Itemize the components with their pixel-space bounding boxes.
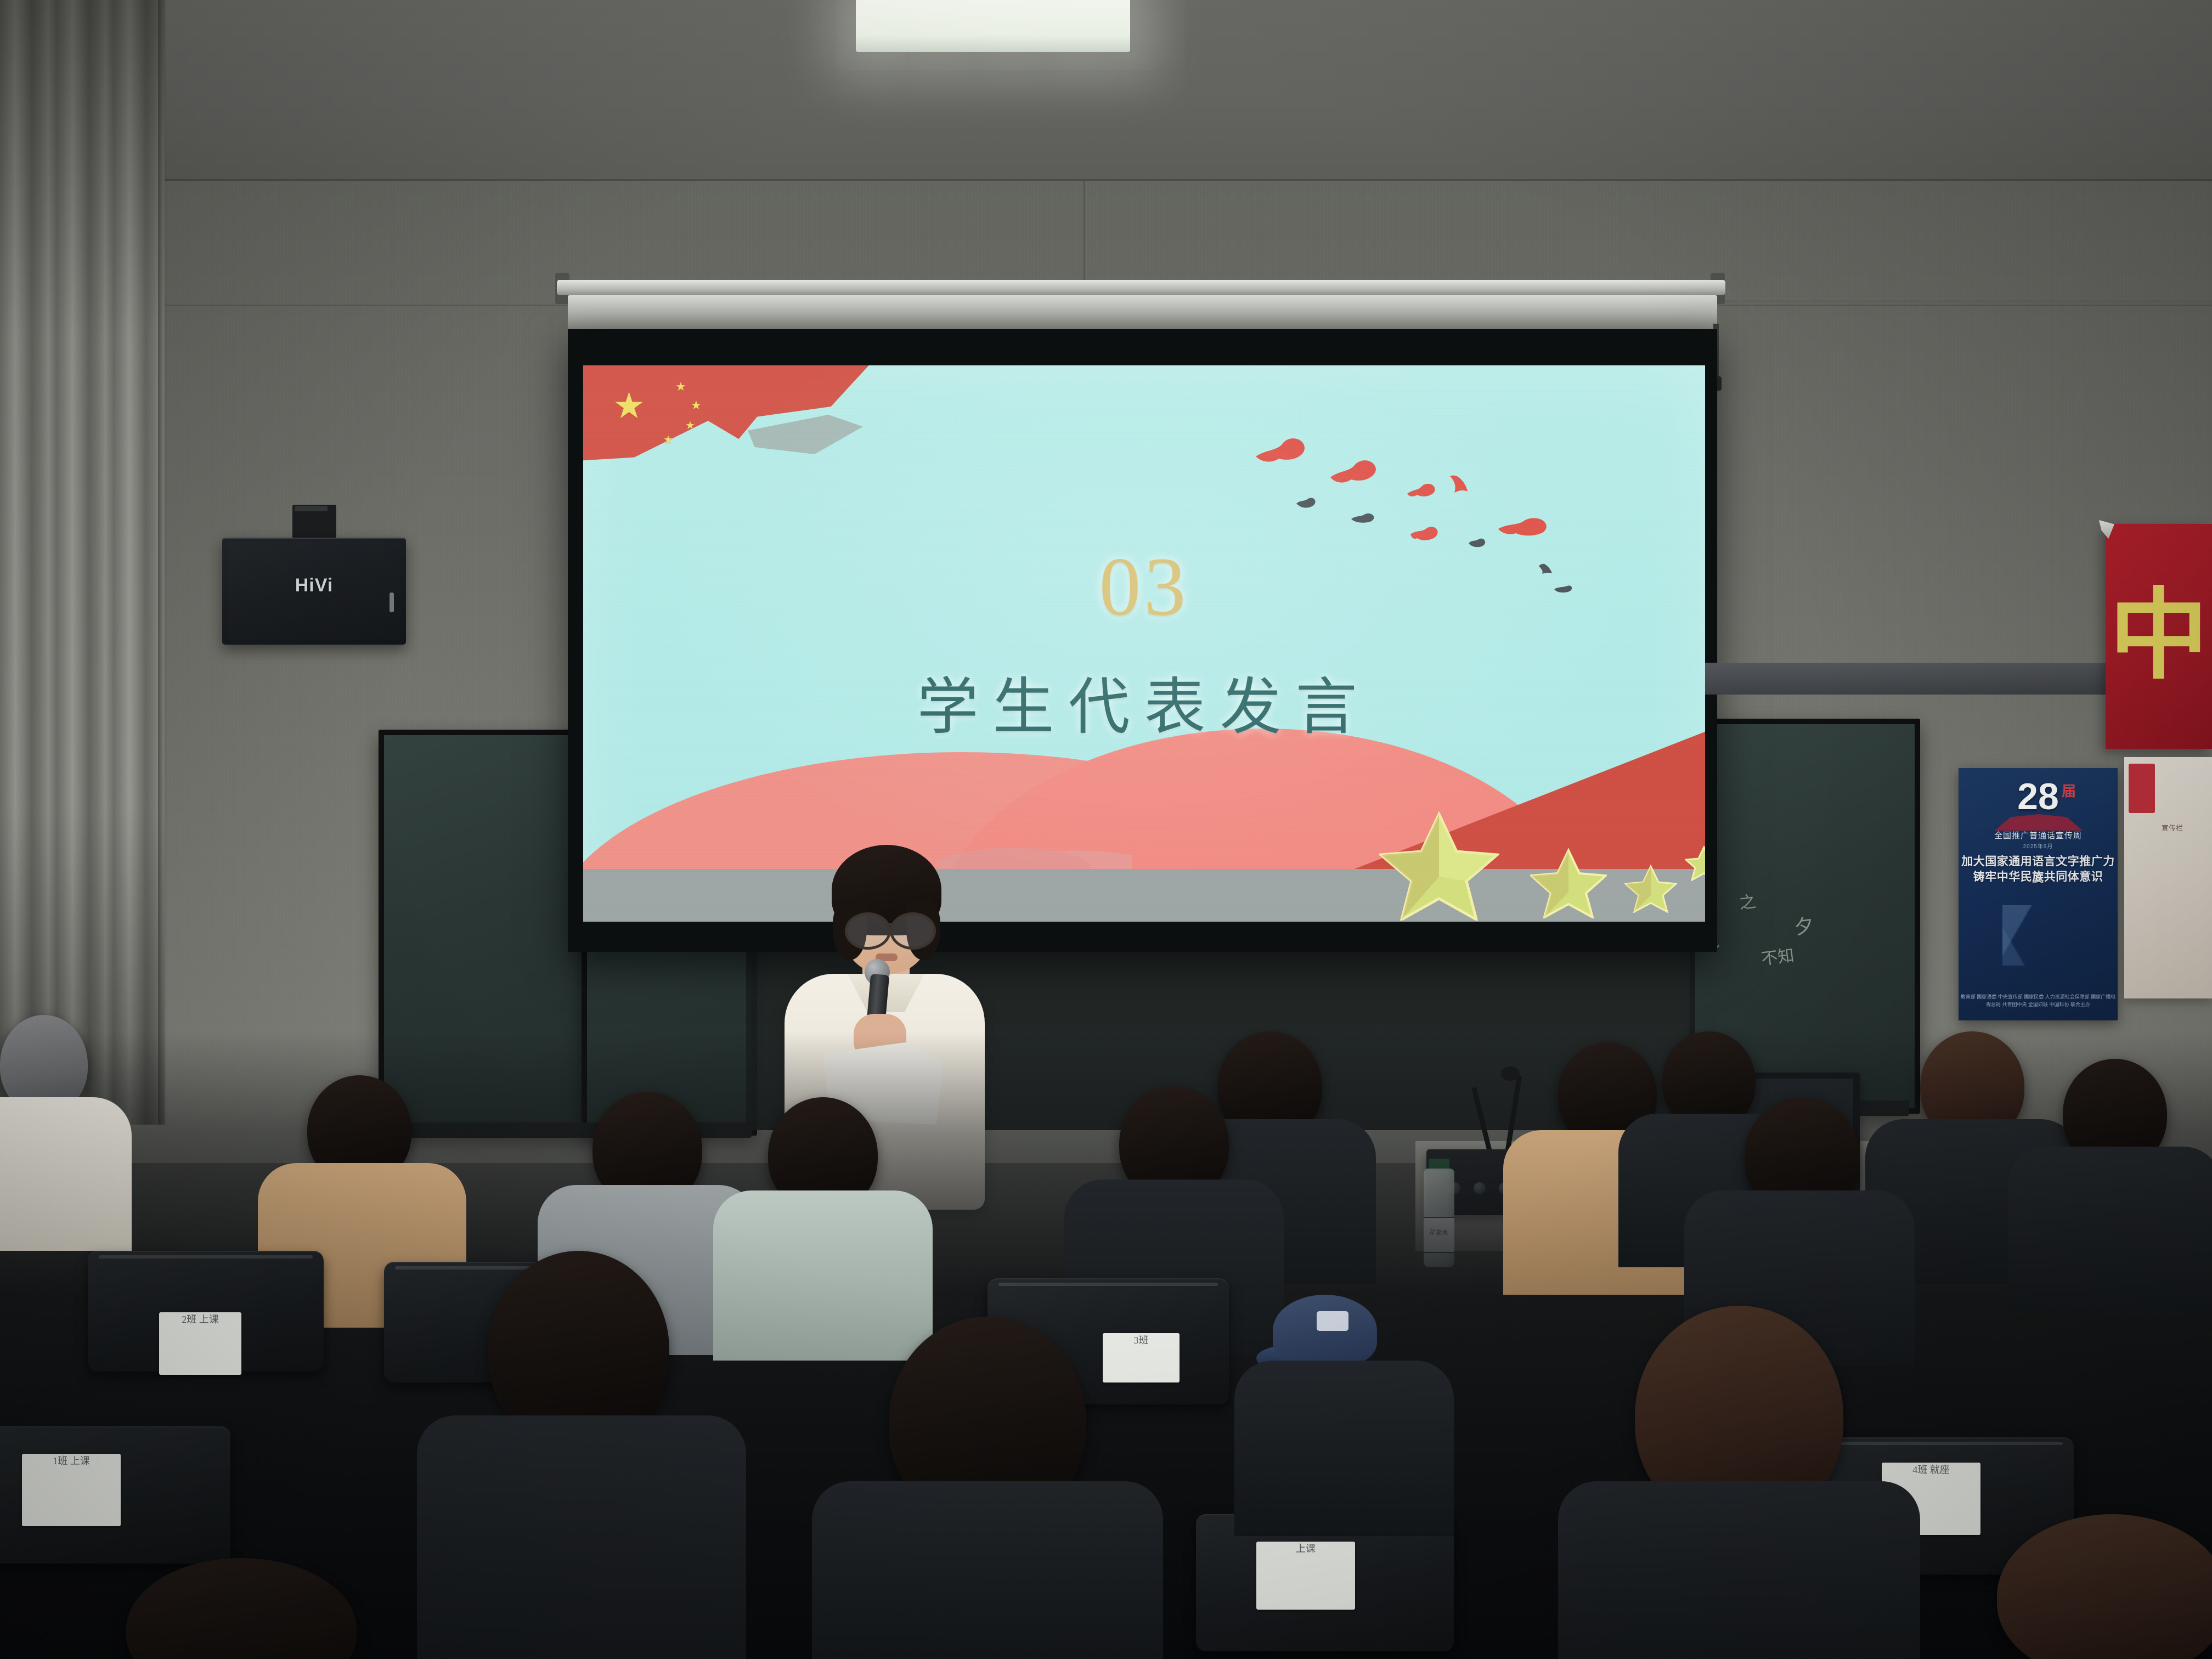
seat-label: 3班 <box>1103 1333 1180 1383</box>
chalk-mark-2: 夕 <box>1792 910 1815 940</box>
presenter-glasses-right-lens <box>890 912 936 950</box>
chalk-mark-3: 不知 <box>1760 942 1796 970</box>
projected-slide: ★ ★ ★ ★ ★ <box>583 365 1705 922</box>
presenter-glasses-left-lens <box>845 912 891 950</box>
audience-shoulders <box>417 1415 746 1659</box>
mandarin-promotion-poster: 28 届 全国推广普通话宣传周 2025年9月 加大国家通用语言文字推广力度 铸… <box>1959 768 2118 1020</box>
poster-edition-suffix: 届 <box>2062 780 2076 800</box>
poster-ribbon-graphic <box>1995 814 2083 831</box>
screen-roller-case <box>568 295 1717 329</box>
chalk-mark-1: 之 <box>1737 888 1757 913</box>
seat-label: 2班 上课 <box>159 1312 241 1375</box>
audience-shoulders <box>1558 1481 1920 1659</box>
seat-label: 1班 上课 <box>22 1454 121 1526</box>
poster-slogan-line-2: 铸牢中华民族共同体意识 <box>1959 868 2118 884</box>
seat-label: 上课 <box>1256 1542 1355 1610</box>
speaker-mount-highlight <box>295 506 328 511</box>
audience-shoulders <box>2008 1147 2212 1311</box>
audience-shoulders <box>0 1097 132 1251</box>
poster-date: 2025年9月 <box>1959 842 2118 850</box>
lecture-hall-photo: HiVi 之 夕 不知 し ★ ★ ★ ★ ★ <box>0 0 2212 1659</box>
ceiling-light-panel <box>856 0 1130 52</box>
presenter-glasses-bridge <box>884 923 892 926</box>
poster-subtitle: 全国推广普通话宣传周 <box>1959 830 2118 841</box>
seat-top-edge <box>998 1283 1218 1286</box>
poster-illustration <box>2002 905 2085 966</box>
screen-mount-rail <box>557 280 1725 295</box>
poster-edition-number: 28 <box>1959 778 2118 815</box>
audience-shoulders <box>713 1190 933 1361</box>
curtain-shading <box>0 0 165 1125</box>
audience-shoulders <box>1234 1361 1454 1536</box>
speaker-brand-logo: HiVi <box>222 575 406 596</box>
slide-projection-grain <box>583 365 1705 922</box>
audience-shoulders <box>812 1481 1163 1659</box>
slide-title: 学生代表发言 <box>583 657 1705 746</box>
seat-top-edge <box>99 1255 313 1259</box>
baseball-cap-logo <box>1317 1311 1348 1331</box>
speaker-port <box>390 592 394 612</box>
bulletin-poster-text: 宣传栏 <box>2162 823 2209 833</box>
seat-top-edge <box>1832 1442 2063 1445</box>
banner-character: 中 <box>2106 535 2212 738</box>
poster-organizers: 教育部 国家语委 中央宣传部 国家民委 人力资源社会保障部 国家广播电视总局 共… <box>1959 993 2118 1008</box>
slide-section-number: 03 <box>583 539 1705 634</box>
bulletin-poster-accent <box>2129 764 2155 813</box>
curtain-edge-shadow <box>158 0 167 1125</box>
